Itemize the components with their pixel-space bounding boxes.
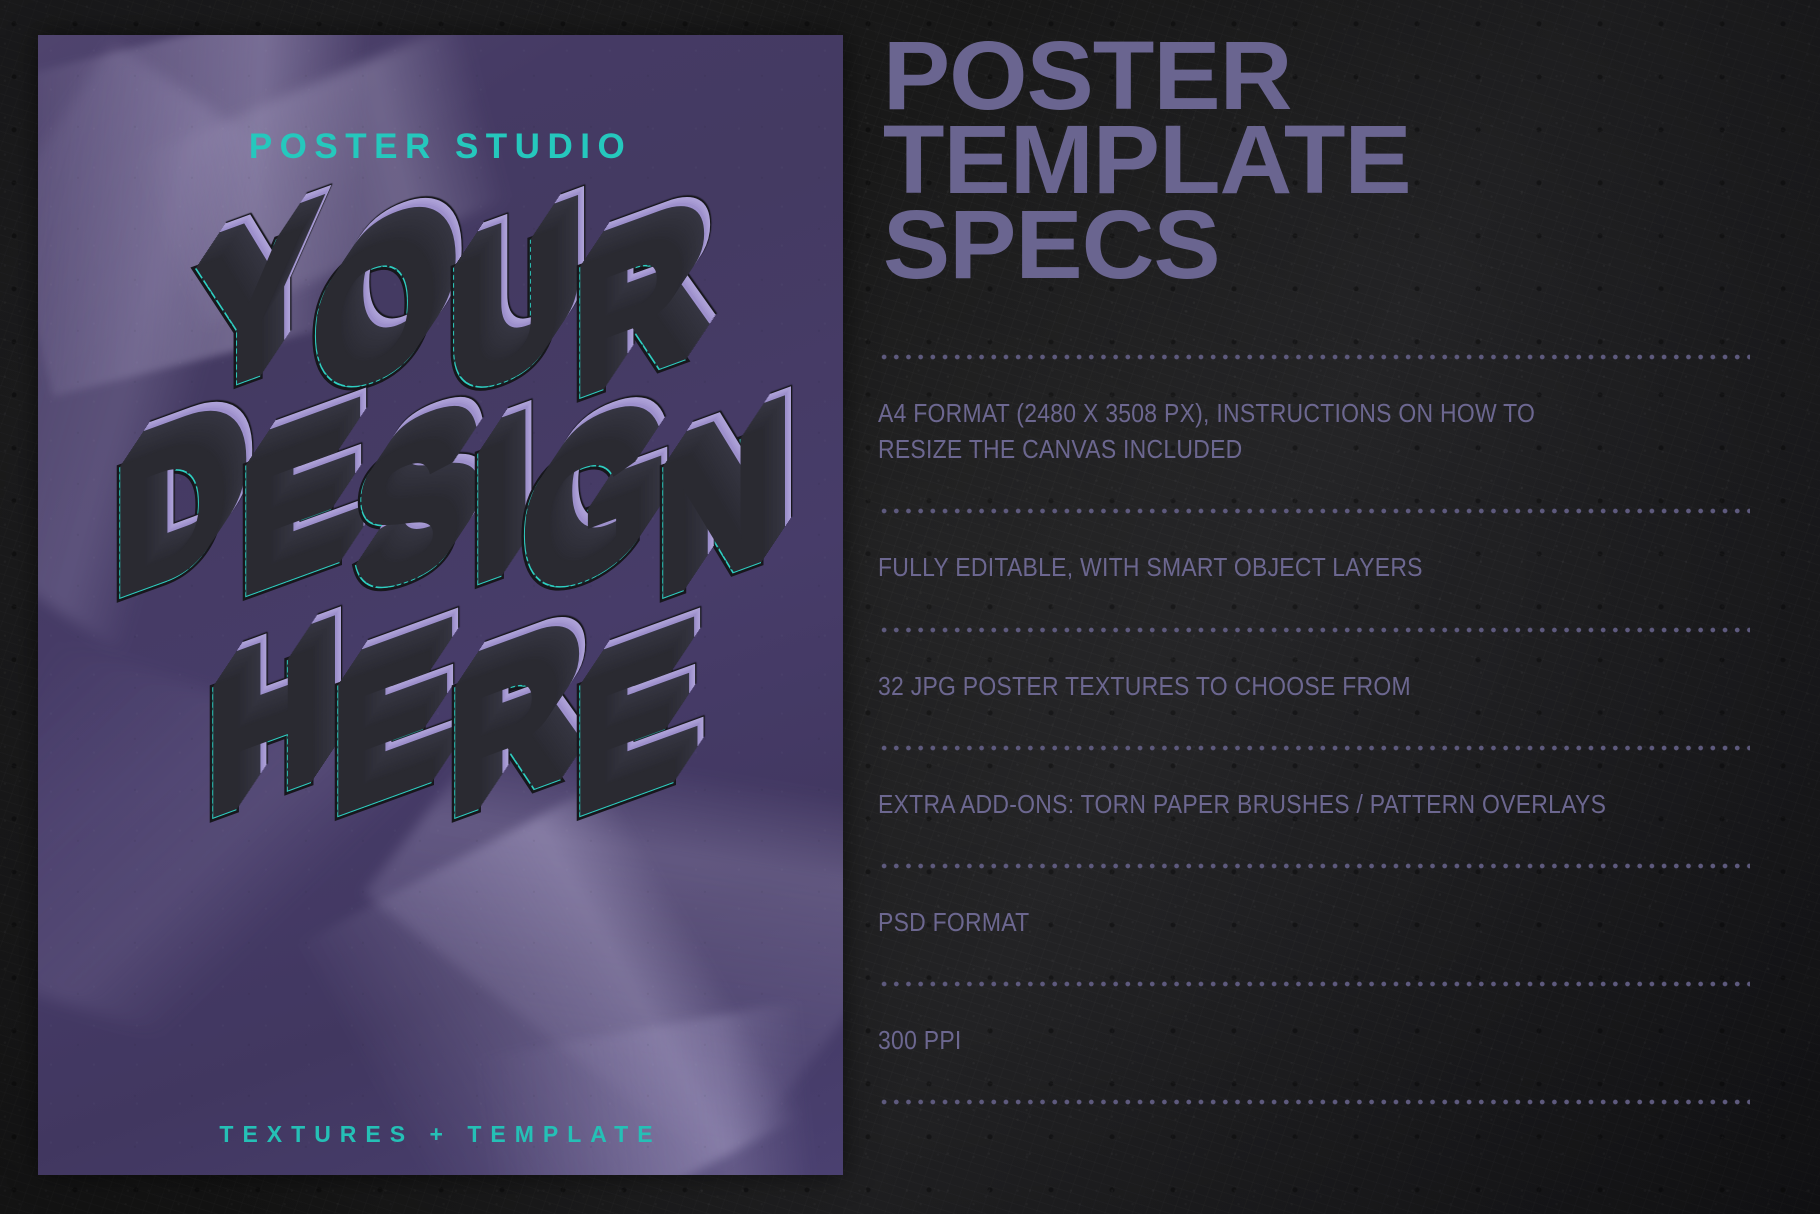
headline-row-here: HERE	[38, 651, 843, 819]
dotted-divider	[878, 743, 1750, 753]
spec-item: PSD FORMAT	[878, 905, 1663, 941]
spacer	[878, 516, 1750, 550]
spacer	[878, 635, 1750, 669]
spacer	[878, 468, 1750, 506]
spacer	[878, 587, 1750, 625]
spec-item: A4 FORMAT (2480 X 3508 PX), INSTRUCTIONS…	[878, 396, 1663, 468]
dotted-divider	[878, 979, 1750, 989]
specs-title: POSTER TEMPLATE SPECS	[756, 34, 1820, 287]
headline-letter: D	[108, 397, 229, 633]
specs-list: A4 FORMAT (2480 X 3508 PX), INSTRUCTIONS…	[878, 352, 1750, 1107]
spec-item: FULLY EDITABLE, WITH SMART OBJECT LAYERS	[878, 550, 1663, 586]
dotted-divider	[878, 625, 1750, 635]
poster-footer-label: TEXTURES + TEMPLATE	[38, 1121, 843, 1148]
dotted-divider	[878, 506, 1750, 516]
dotted-divider	[878, 1097, 1750, 1107]
headline-letter: S	[350, 399, 462, 631]
spec-item: 32 JPG POSTER TEXTURES TO CHOOSE FROM	[878, 669, 1663, 705]
headline-letter: I	[466, 411, 513, 620]
spacer	[878, 705, 1750, 743]
headline-letter: N	[651, 397, 772, 633]
spec-item: EXTRA ADD-ONS: TORN PAPER BRUSHES / PATT…	[878, 787, 1663, 823]
poster-headline-3d: YOUR DESIGN HERE	[38, 231, 843, 1021]
spacer	[878, 362, 1750, 396]
poster-header-label: POSTER STUDIO	[38, 127, 843, 167]
spacer	[878, 941, 1750, 979]
spacer	[878, 753, 1750, 787]
headline-letter: R	[443, 617, 564, 853]
spec-item: 300 PPI	[878, 1023, 1663, 1059]
spacer	[878, 871, 1750, 905]
specs-panel: POSTER TEMPLATE SPECS A4 FORMAT (2480 X …	[878, 0, 1750, 1214]
dotted-divider	[878, 861, 1750, 871]
spacer	[878, 823, 1750, 861]
headline-letter: E	[326, 619, 438, 851]
dotted-divider	[878, 352, 1750, 362]
headline-letter: E	[234, 399, 346, 631]
headline-letter: H	[201, 617, 322, 853]
spacer	[878, 989, 1750, 1023]
headline-letter: G	[517, 395, 648, 634]
poster-mockup[interactable]: POSTER STUDIO YOUR DESIGN HERE TEXTURES …	[38, 35, 843, 1175]
specs-title-line-3: SPECS	[883, 203, 1820, 287]
headline-letter: E	[568, 619, 680, 851]
spacer	[878, 1059, 1750, 1097]
headline-row-your: YOUR	[38, 231, 843, 399]
headline-row-design: DESIGN	[38, 431, 843, 599]
